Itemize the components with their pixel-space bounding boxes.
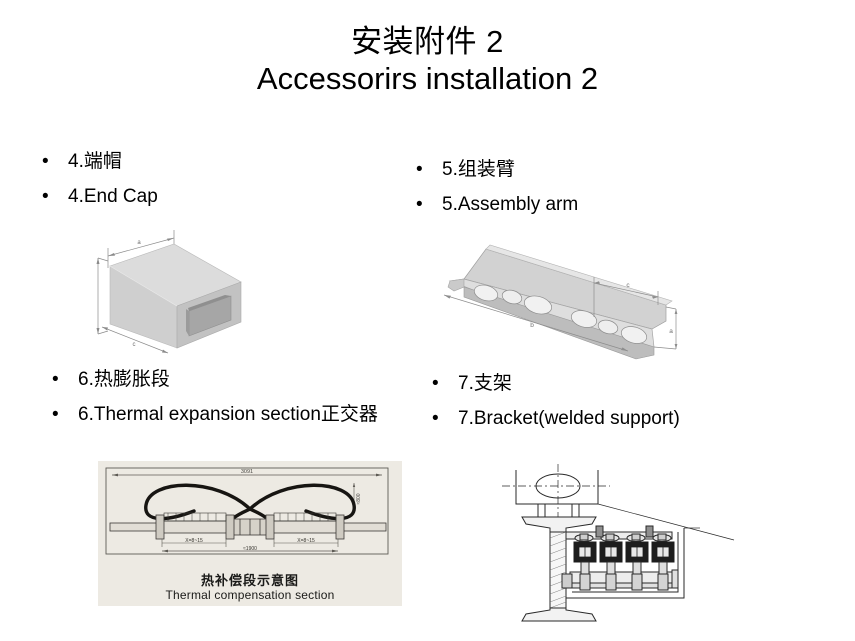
bolt-right: [572, 504, 579, 517]
bullet-icon: •: [412, 158, 442, 182]
list-item: • 6.热膨胀段: [48, 368, 410, 392]
bullet-icon: •: [412, 193, 442, 217]
bullet-label-bracket-cn: 7.支架: [458, 372, 512, 396]
expansion-loop-left: [146, 485, 250, 518]
bolt-left: [538, 504, 545, 517]
bullet-label-end-cap-en: 4.End Cap: [68, 185, 158, 209]
bullet-label-thermal-cn: 6.热膨胀段: [78, 368, 170, 392]
duct-far-left: [110, 523, 158, 531]
rail-end-cap: [672, 570, 678, 588]
scan-dimension-top: 3091: [241, 469, 253, 475]
bullet-label-end-cap-cn: 4.端帽: [68, 150, 122, 174]
ibeam-top-flange: [522, 517, 596, 532]
loop-cross-right: [250, 509, 268, 519]
figure-bracket-welded-support: [486, 458, 758, 638]
bullet-icon: •: [38, 150, 68, 174]
figure-end-cap: a c: [96, 226, 276, 358]
bullet-group-bracket: • 7.支架 • 7.Bracket(welded support): [428, 372, 788, 442]
page-title-english: Accessorirs installation 2: [0, 61, 855, 98]
figure-thermal-compensation-scan: 3091 ≈800: [98, 461, 402, 606]
scan-caption-english: Thermal compensation section: [98, 589, 402, 602]
scan-caption-chinese: 热补偿段示意图: [98, 574, 402, 589]
list-item: • 7.Bracket(welded support): [428, 407, 788, 431]
scan-dimension-right: ≈800: [356, 493, 362, 504]
page-title-chinese: 安装附件 2: [0, 24, 855, 61]
bullet-icon: •: [428, 372, 458, 396]
expansion-loop-right: [250, 485, 354, 518]
dimension-label-b: b: [530, 322, 534, 329]
dimension-label-c: c: [133, 342, 136, 348]
duct-left: [158, 521, 232, 533]
figure-assembly-arm: b c a: [428, 243, 684, 363]
list-item: • 5.Assembly arm: [412, 193, 742, 217]
bullet-icon: •: [48, 403, 78, 427]
scan-caption: 热补偿段示意图 Thermal compensation section: [98, 574, 402, 602]
ibeam-bottom-flange: [522, 608, 596, 621]
rail-left-bolt: [562, 574, 572, 588]
bullet-icon: •: [38, 185, 68, 209]
bullet-group-thermal-expansion: • 6.热膨胀段 • 6.Thermal expansion section正交…: [48, 368, 410, 438]
loop-cross-left: [232, 509, 250, 519]
duct-far-right: [342, 523, 386, 531]
scan-dimension-x-right: X=8~15: [297, 538, 315, 544]
scan-dimension-x-left: X=8~15: [185, 538, 203, 544]
list-item: • 4.端帽: [38, 150, 338, 174]
upper-duct-box: [516, 470, 598, 504]
ibeam-web: [550, 532, 566, 608]
page-title: 安装附件 2 Accessorirs installation 2: [0, 24, 855, 97]
list-item: • 6.Thermal expansion section正交器: [48, 403, 410, 427]
scan-dimension-bottom: ≈1900: [243, 546, 257, 552]
list-item: • 5.组装臂: [412, 158, 742, 182]
list-item: • 4.End Cap: [38, 185, 338, 209]
duct-right: [268, 521, 342, 533]
dimension-label-a: a: [669, 328, 673, 335]
bullet-label-bracket-en: 7.Bracket(welded support): [458, 407, 680, 431]
bullet-group-assembly-arm: • 5.组装臂 • 5.Assembly arm: [412, 158, 742, 228]
bullet-label-assembly-arm-cn: 5.组装臂: [442, 158, 515, 182]
bullet-icon: •: [48, 368, 78, 392]
bullet-icon: •: [428, 407, 458, 431]
bullet-label-assembly-arm-en: 5.Assembly arm: [442, 193, 578, 217]
dimension-label-a: a: [137, 240, 141, 246]
list-item: • 7.支架: [428, 372, 788, 396]
bullet-group-end-cap: • 4.端帽 • 4.End Cap: [38, 150, 338, 220]
bullet-label-thermal-en: 6.Thermal expansion section正交器: [78, 403, 378, 427]
arm-left-tip: [448, 279, 464, 291]
central-manifold: [232, 519, 268, 535]
